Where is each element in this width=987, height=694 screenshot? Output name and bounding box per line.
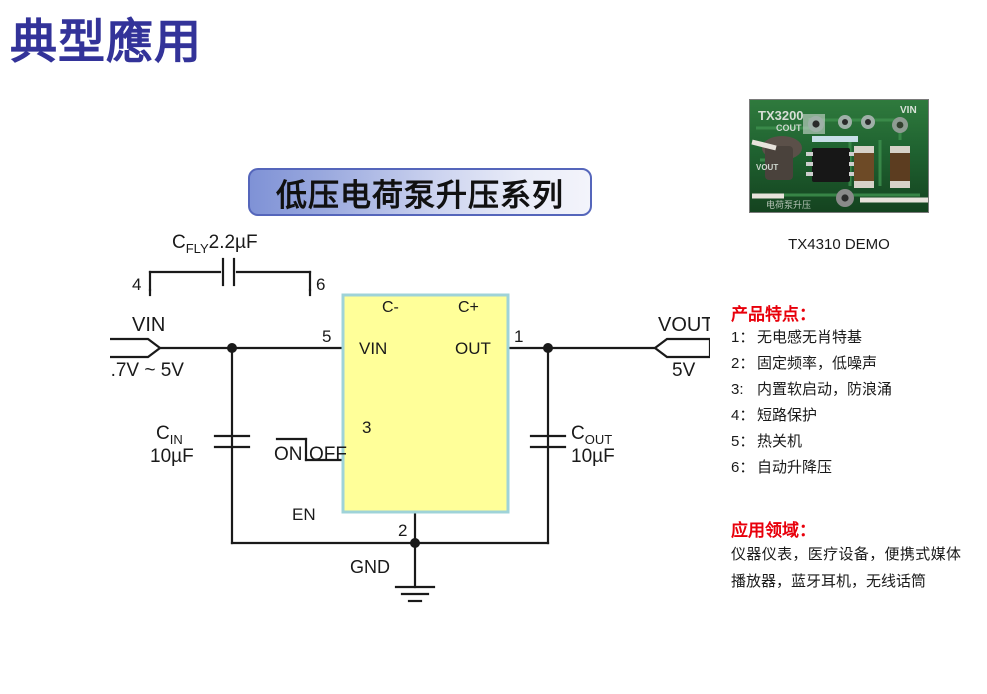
feature-number: 3: [731, 377, 757, 403]
cfly-name: C [172, 232, 186, 253]
pin-number-2: 2 [398, 521, 407, 540]
slide-root: 典型應用 低压电荷泵升压系列 [0, 0, 987, 694]
ic-pin-label-out: OUT [455, 339, 491, 358]
page-title: 典型應用 [10, 16, 202, 68]
cout-label: COUT [571, 423, 612, 447]
cin-label: CIN [156, 423, 183, 447]
list-item: 4： 短路保护 [731, 403, 976, 429]
pcb-silkscreen-vout: VOUT [756, 163, 778, 172]
cout-value: 10µF [571, 446, 615, 467]
junction-gnd [410, 538, 420, 548]
demo-board-caption: TX4310 DEMO [749, 236, 929, 253]
ic-pin-label-cplus: C+ [458, 299, 479, 316]
feature-text: 内置软启动，防浪涌 [757, 377, 892, 403]
junction-vin [227, 343, 237, 353]
switch-off-label: OFF [309, 444, 347, 465]
ic-pin-label-cminus: C- [382, 299, 399, 316]
en-label: EN [292, 505, 316, 524]
section-banner: 低压电荷泵升压系列 [248, 168, 592, 216]
vout-port-symbol [655, 339, 710, 357]
pin-number-3: 3 [362, 418, 371, 437]
feature-number: 1： [731, 325, 757, 351]
pcb-silk-stripe [812, 136, 858, 142]
list-item: 5： 热关机 [731, 429, 976, 455]
list-item: 1： 无电感无肖特基 [731, 325, 976, 351]
applications-text: 仪器仪表，医疗设备，便携式媒体播放器，蓝牙耳机，无线话筒 [731, 541, 961, 595]
applications-heading: 应用领域： [731, 516, 816, 541]
feature-text: 热关机 [757, 429, 802, 455]
ic-body [343, 295, 508, 512]
features-list: 1： 无电感无肖特基 2： 固定频率，低噪声 3: 内置软启动，防浪涌 4： 短… [731, 325, 976, 481]
pin-number-1: 1 [514, 327, 523, 346]
application-circuit-diagram: C- C+ VIN OUT 4 6 5 1 3 2 CFLY2.2µF CIN … [110, 215, 710, 635]
junction-vout [543, 343, 553, 353]
feature-text: 自动升降压 [757, 455, 832, 481]
vin-range-label: 2.7V ~ 5V [110, 360, 184, 381]
pin-number-4: 4 [132, 275, 141, 294]
vin-port-label: VIN [132, 314, 165, 336]
feature-text: 短路保护 [757, 403, 817, 429]
cout-name: C [571, 423, 585, 444]
features-heading: 产品特点： [731, 300, 816, 325]
vin-port-symbol [110, 339, 160, 357]
list-item: 2： 固定频率，低噪声 [731, 351, 976, 377]
vout-value-label: 5V [672, 360, 696, 381]
gnd-label: GND [350, 557, 390, 577]
cin-sub: IN [170, 432, 183, 447]
feature-number: 6： [731, 455, 757, 481]
feature-text: 无电感无肖特基 [757, 325, 862, 351]
cout-sub: OUT [585, 432, 613, 447]
pin-number-6: 6 [316, 275, 325, 294]
switch-on-label: ON [274, 444, 303, 465]
ic-pin-label-vin: VIN [359, 339, 387, 358]
feature-number: 2： [731, 351, 757, 377]
cfly-value: 2.2µF [209, 232, 258, 253]
cin-value: 10µF [150, 446, 194, 467]
banner-label: 低压电荷泵升压系列 [276, 170, 564, 215]
cfly-label: CFLY2.2µF [172, 232, 258, 256]
pcb-silkscreen-part: TX3200 [758, 108, 804, 123]
pcb-silkscreen-vin: VIN [900, 105, 917, 116]
cin-name: C [156, 423, 170, 444]
pin-number-5: 5 [322, 327, 331, 346]
pcb-ic [812, 148, 850, 182]
feature-text: 固定频率，低噪声 [757, 351, 877, 377]
demo-board-photo: TX3200 COUT VIN VOUT 电荷泵升压 [749, 99, 929, 213]
feature-number: 5： [731, 429, 757, 455]
list-item: 3: 内置软启动，防浪涌 [731, 377, 976, 403]
pcb-silkscreen-cout: COUT [776, 123, 802, 133]
list-item: 6： 自动升降压 [731, 455, 976, 481]
pcb-silkscreen-bottom: 电荷泵升压 [766, 199, 811, 210]
cfly-sub: FLY [186, 241, 209, 256]
vout-port-label: VOUT [658, 314, 710, 336]
feature-number: 4： [731, 403, 757, 429]
